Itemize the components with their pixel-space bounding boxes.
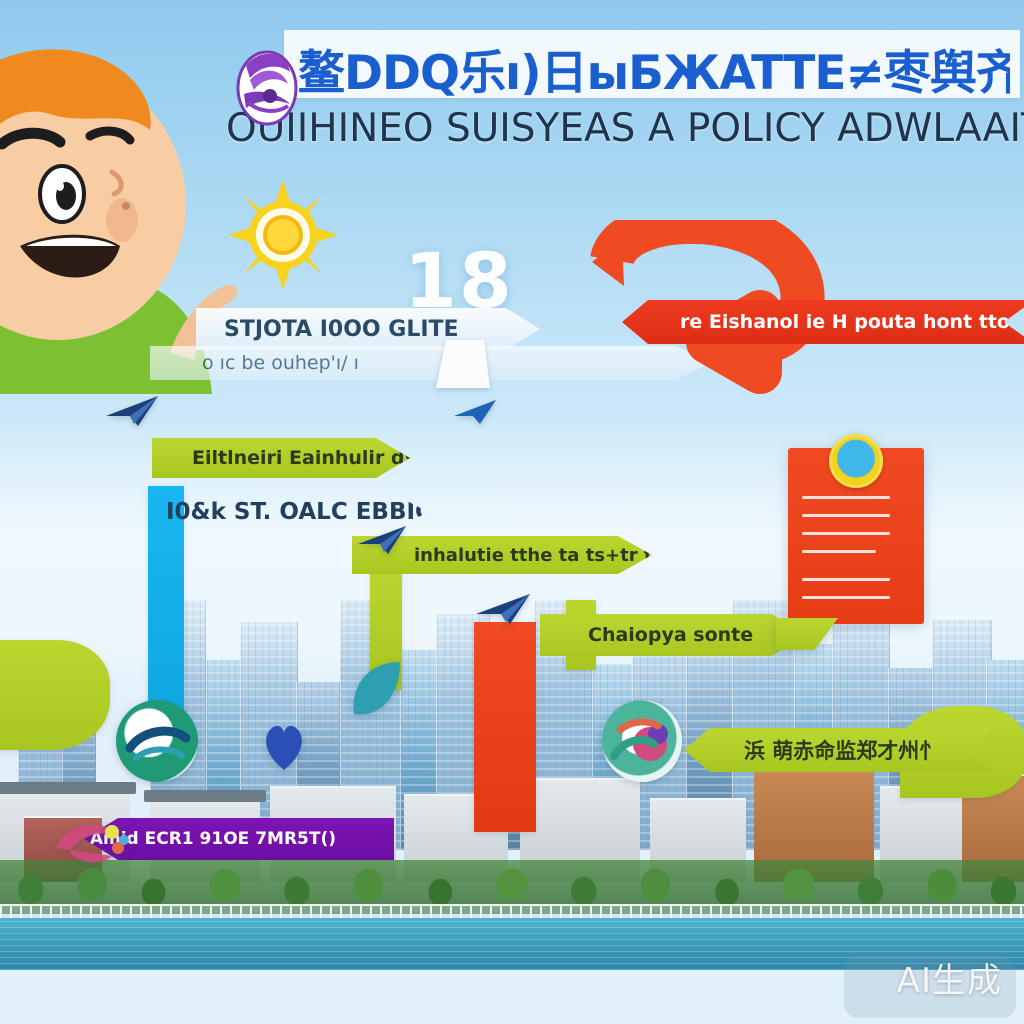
- purple-oval-emblem-icon: [236, 50, 298, 126]
- teal-ribbon-icon: [116, 700, 198, 782]
- banner-red-policy-label: re Eishanol ie H pouta hont ttos micmrE: [680, 311, 1024, 333]
- banner-green-2-label: inhalutie tthe ta ts+tr tii fir: [414, 545, 652, 566]
- banner-stjota-sublabel: o ıc bе ouhep'ı/ ı: [202, 352, 359, 374]
- blue-heart-icon: [262, 720, 306, 772]
- poster-header: 鳌DDQ乐ı)日ыБЖATTЕ≠枣舆齐实诉 OUIIHINEO SUISYEAS…: [236, 28, 1020, 150]
- banner-green-4-label: 浜 萌赤命监郑才州忄: [744, 735, 940, 765]
- red-vertical-bar: [474, 622, 536, 832]
- ai-generated-watermark: AI生成: [897, 953, 1002, 1002]
- banner-white-oalce-label: I0&k ST. OALC EBBICRIIIP: [166, 499, 428, 525]
- red-policy-document-card[interactable]: [788, 448, 924, 624]
- banner-green-3-label: Chaiopya sonte: [588, 624, 753, 646]
- paper-plane-icon: [104, 394, 162, 428]
- teal-leaf-icon: [348, 660, 404, 720]
- infographic-poster: 鳌DDQ乐ı)日ыБЖATTЕ≠枣舆齐实诉 OUIIHINEO SUISYEAS…: [0, 0, 1024, 1024]
- pink-swirl-icon: [48, 812, 140, 882]
- multicolor-medal-icon: [602, 700, 682, 782]
- banner-green-1-label: Eiltlneiri Eainhulir dyuef tril: [192, 447, 410, 469]
- page-subtitle: OUIIHINEO SUISYEAS A POLICY ADWLAAITE: [226, 106, 1024, 151]
- paper-plane-icon-3: [474, 592, 534, 626]
- page-title: 鳌DDQ乐ı)日ыБЖATTЕ≠枣舆齐实诉: [298, 34, 1010, 103]
- banner-red-policy[interactable]: re Eishanol ie H pouta hont ttos micmrE: [622, 300, 1024, 344]
- white-paper-sheet-icon: [432, 336, 494, 392]
- green-blob-left: [0, 640, 110, 750]
- banner-green-4[interactable]: 浜 萌赤命监郑才州忄: [684, 728, 994, 772]
- sun-icon: [228, 180, 338, 290]
- banner-green-1[interactable]: Eiltlneiri Eainhulir dyuef tril: [152, 438, 410, 478]
- banner-green-3[interactable]: Chaiopya sonte: [540, 614, 806, 656]
- paper-plane-icon-4: [452, 398, 498, 426]
- paper-plane-icon-2: [356, 524, 410, 556]
- banner-stjota-label: STJOTA I0OO GLITE: [224, 317, 459, 342]
- globe-seal-icon: [829, 434, 883, 488]
